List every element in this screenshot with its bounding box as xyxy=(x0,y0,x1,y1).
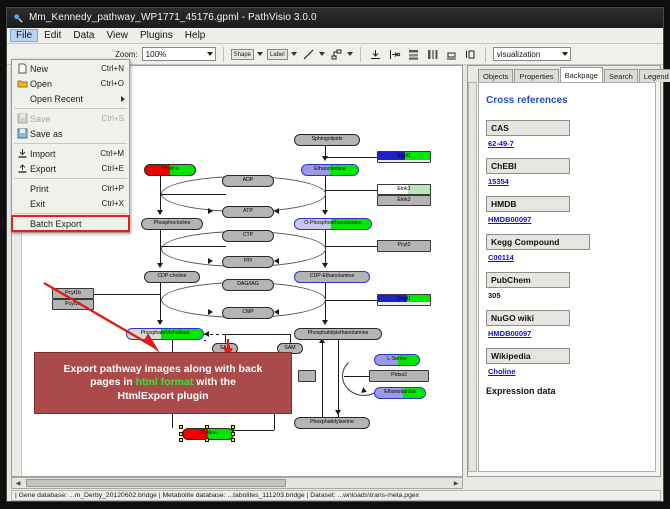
menu-item-accel: Ctrl+X xyxy=(102,199,129,208)
annotation-line-3: HtmlExport plugin xyxy=(118,390,209,402)
menu-item-print[interactable]: Print Ctrl+P xyxy=(12,181,129,196)
scrollbar-thumb[interactable] xyxy=(26,479,286,487)
menu-item-label: Exit xyxy=(30,199,102,209)
tab-search[interactable]: Search xyxy=(604,69,638,82)
file-menu-dropdown[interactable]: New Ctrl+N Open Ctrl+O Open Recent Save … xyxy=(11,59,130,233)
reaction-anchor-box[interactable] xyxy=(298,370,316,382)
label-dropdown-icon[interactable] xyxy=(291,52,297,56)
xref-label-nugo-wiki: NuGO wiki xyxy=(486,310,570,326)
menu-item-export[interactable]: Export Ctrl+E xyxy=(12,161,129,176)
menu-item-accel: Ctrl+P xyxy=(102,184,129,193)
node-label: CDP-Ethanolamine xyxy=(310,274,354,279)
menu-data[interactable]: Data xyxy=(67,29,100,42)
node-label: O-Phosphoethanolamine xyxy=(304,221,361,226)
save-as-icon xyxy=(14,128,30,139)
scroll-left-icon[interactable]: ◀ xyxy=(12,478,24,488)
node-cmp[interactable]: CMP xyxy=(222,307,274,319)
menu-item-accel: Ctrl+M xyxy=(100,149,129,158)
node-ctp[interactable]: CTP xyxy=(222,230,274,242)
node-ethanolamine-top[interactable]: Ethanolamine xyxy=(301,164,359,176)
node-label: Cept1 xyxy=(397,297,411,302)
anchor-line xyxy=(325,246,377,247)
menu-item-accel: Ctrl+E xyxy=(102,164,129,173)
xref-label-wikipedia: Wikipedia xyxy=(486,348,570,364)
xref-value-pubchem: 305 xyxy=(488,291,648,300)
menu-item-label: Save xyxy=(30,114,102,124)
anchor-line xyxy=(325,300,377,301)
node-dag-iag[interactable]: DAG/IAG xyxy=(222,279,274,291)
gene-sgpl1[interactable]: Sgpl1 xyxy=(377,151,431,163)
arrow-head-icon xyxy=(204,331,209,337)
node-cdp-ethanolamine[interactable]: CDP-Ethanolamine xyxy=(294,271,370,283)
node-label: Phosphatidylethanolamine xyxy=(308,331,369,336)
menu-item-new[interactable]: New Ctrl+N xyxy=(12,61,129,76)
export-icon xyxy=(14,163,30,174)
status-bar: | Gene database: ...m_Derby_20120602.bri… xyxy=(11,490,661,501)
menu-item-open-recent[interactable]: Open Recent xyxy=(12,91,129,106)
xref-value-chebi[interactable]: 15354 xyxy=(488,177,648,186)
visualization-combo[interactable]: visualization xyxy=(493,47,571,61)
node-label: ADP xyxy=(243,178,254,183)
arrow-head-icon xyxy=(335,410,341,415)
toolbar-separator xyxy=(223,47,224,62)
connector-line xyxy=(225,334,290,335)
node-label: Pcyt2 xyxy=(398,243,411,248)
connector-line xyxy=(234,430,274,431)
arrow-head-icon xyxy=(322,263,328,268)
node-ethanolamine-lower[interactable]: Ethanolamine xyxy=(374,387,426,399)
menu-item-label: Print xyxy=(30,184,102,194)
new-file-icon xyxy=(14,63,30,74)
node-l-serine[interactable]: L-Serine xyxy=(374,354,420,366)
anchor-line xyxy=(325,157,377,158)
node-label: Ptdss2 xyxy=(391,373,407,378)
node-label: L-Serine xyxy=(387,357,407,362)
annotation-line-2-pre: pages in xyxy=(90,376,136,388)
menu-item-open[interactable]: Open Ctrl+O xyxy=(12,76,129,91)
node-phosphatidylethanolamine[interactable]: Phosphatidylethanolamine xyxy=(294,328,382,340)
menu-file[interactable]: File xyxy=(10,29,38,42)
xref-label-hmdb: HMDB xyxy=(486,196,570,212)
zoom-combo[interactable]: 100% xyxy=(142,47,216,61)
node-label: SAM xyxy=(284,346,295,351)
node-choline-top[interactable]: Choline xyxy=(144,164,196,176)
menu-item-label: Batch Export xyxy=(30,219,129,229)
application-window: Mm_Kennedy_pathway_WP1771_45176.gpml - P… xyxy=(6,7,664,502)
side-panel: Objects Properties Backpage Search Legen… xyxy=(467,65,661,477)
menu-item-import[interactable]: Import Ctrl+M xyxy=(12,146,129,161)
title-bar: Mm_Kennedy_pathway_WP1771_45176.gpml - P… xyxy=(7,8,663,28)
anchor-line xyxy=(325,190,377,191)
side-panel-scrollbar[interactable] xyxy=(468,82,477,472)
connector-line xyxy=(322,340,323,417)
gene-etnk1[interactable]: Etnk1 xyxy=(377,184,431,195)
node-label: Sphingolipids xyxy=(312,137,343,142)
menu-edit[interactable]: Edit xyxy=(38,29,67,42)
node-label: Ethanolamine xyxy=(314,167,346,172)
menu-plugins[interactable]: Plugins xyxy=(134,29,179,42)
line-tool-icon[interactable] xyxy=(301,47,316,62)
xref-label-kegg-compound: Kegg Compound xyxy=(486,234,590,250)
node-o-phosphoethanolamine[interactable]: O-Phosphoethanolamine xyxy=(294,218,372,230)
xref-value-hmdb[interactable]: HMDB00097 xyxy=(488,215,648,224)
node-label: CDP-choline xyxy=(157,274,186,279)
same-height-icon[interactable] xyxy=(463,47,478,62)
open-folder-icon xyxy=(14,78,30,89)
xref-value-cas[interactable]: 62-49-7 xyxy=(488,139,648,148)
backpage-content: Cross references CAS 62-49-7 ChEBI 15354… xyxy=(478,82,656,472)
distribute-vertical-icon[interactable] xyxy=(406,47,421,62)
node-label: CTP xyxy=(243,233,253,238)
arrow-head-icon xyxy=(208,309,213,315)
node-label: Etnk2 xyxy=(397,198,410,203)
node-phosphocholine[interactable]: Phosphocholine xyxy=(141,218,203,230)
node-sphingolipids[interactable]: Sphingolipids xyxy=(294,134,360,146)
node-label: Ethanolamine xyxy=(384,390,416,395)
menu-separator xyxy=(14,178,127,179)
interaction-tool-icon[interactable] xyxy=(329,47,344,62)
pathvisio-icon xyxy=(13,13,24,24)
annotation-highlight: html format xyxy=(136,376,194,388)
node-label: PPi xyxy=(244,259,252,264)
connector-line xyxy=(204,340,206,341)
menu-item-save-as[interactable]: Save as xyxy=(12,126,129,141)
arrow-head-icon xyxy=(274,208,279,214)
screenshot-root: Mm_Kennedy_pathway_WP1771_45176.gpml - P… xyxy=(0,0,670,509)
toolbar-separator xyxy=(485,47,486,62)
menu-item-accel: Ctrl+S xyxy=(102,114,129,123)
xref-label-chebi: ChEBI xyxy=(486,158,570,174)
line-dropdown-icon[interactable] xyxy=(319,52,325,56)
menu-item-label: Import xyxy=(30,149,100,159)
side-panel-tabs[interactable]: Objects Properties Backpage Search Legen… xyxy=(468,66,660,82)
anchor-line xyxy=(160,194,226,195)
xref-value-nugo-wiki[interactable]: HMDB00097 xyxy=(488,329,648,338)
arrow-head-icon xyxy=(157,263,163,268)
selection-handle[interactable] xyxy=(179,425,183,429)
xref-label-pubchem: PubChem xyxy=(486,272,570,288)
tab-properties[interactable]: Properties xyxy=(514,69,558,82)
xref-value-wikipedia[interactable]: Choline xyxy=(488,367,648,376)
menu-item-label: Save as xyxy=(30,129,124,139)
node-adp[interactable]: ADP xyxy=(222,175,274,187)
gene-etnk2[interactable]: Etnk2 xyxy=(377,195,431,206)
status-text: | Gene database: ...m_Derby_20120602.bri… xyxy=(15,492,419,499)
tab-backpage[interactable]: Backpage xyxy=(560,67,603,82)
tab-legend[interactable]: Legend xyxy=(639,69,670,82)
node-label: Choline xyxy=(199,431,217,436)
chevron-down-icon xyxy=(562,52,568,56)
expression-lower xyxy=(378,160,430,162)
import-icon xyxy=(14,148,30,159)
arrow-head-icon xyxy=(274,258,279,264)
annotation-callout: Export pathway images along with back pa… xyxy=(34,352,292,414)
shape-tool-icon[interactable]: Shape xyxy=(231,49,254,60)
annotation-line-2-post: with the xyxy=(193,376,236,388)
connector-line xyxy=(290,334,291,343)
arrow-head-icon xyxy=(322,320,328,325)
arrow-head-icon xyxy=(274,309,279,315)
menu-item-accel: Ctrl+O xyxy=(101,79,129,88)
anchor-line xyxy=(160,246,226,247)
menu-bar[interactable]: File Edit Data View Plugins Help xyxy=(7,28,663,44)
node-ppi[interactable]: PPi xyxy=(222,256,274,268)
menu-item-label: Open Recent xyxy=(30,94,129,104)
connector-line xyxy=(338,340,339,417)
menu-item-accel: Ctrl+N xyxy=(101,64,129,73)
menu-item-exit[interactable]: Exit Ctrl+X xyxy=(12,196,129,211)
node-label: Etnk1 xyxy=(397,187,410,192)
xref-value-kegg-compound[interactable]: C00114 xyxy=(488,253,648,262)
chevron-right-icon xyxy=(121,96,125,102)
menu-separator xyxy=(14,143,127,144)
node-label: Phosphatidylserine xyxy=(310,420,354,425)
selection-handle[interactable] xyxy=(179,438,183,442)
selection-handle[interactable] xyxy=(231,432,235,436)
expression-half xyxy=(408,185,430,194)
menu-item-batch-export[interactable]: Batch Export xyxy=(12,216,129,231)
toolbar-separator xyxy=(360,47,361,62)
selection-handle[interactable] xyxy=(205,425,209,429)
window-title: Mm_Kennedy_pathway_WP1771_45176.gpml - P… xyxy=(29,8,317,28)
expression-data-heading: Expression data xyxy=(486,386,648,396)
selection-handle[interactable] xyxy=(205,438,209,442)
node-label: Sgpl1 xyxy=(397,154,410,159)
label-tool-icon[interactable]: Label xyxy=(267,49,288,60)
xref-label-cas: CAS xyxy=(486,120,570,136)
node-phosphatidylserine[interactable]: Phosphatidylserine xyxy=(294,417,370,429)
zoom-value: 100% xyxy=(146,50,166,59)
menu-item-label: Open xyxy=(30,79,101,89)
node-label: Choline xyxy=(161,167,179,172)
gene-ptdss2[interactable]: Ptdss2 xyxy=(369,370,429,382)
visualization-value: visualization xyxy=(497,50,541,59)
menu-view[interactable]: View xyxy=(100,29,134,42)
menu-help[interactable]: Help xyxy=(179,29,212,42)
annotation-line-1: Export pathway images along with back xyxy=(64,363,263,375)
selection-handle[interactable] xyxy=(231,425,235,429)
scroll-right-icon[interactable]: ▶ xyxy=(450,478,462,488)
arrow-head-icon xyxy=(208,208,213,214)
gene-cept1[interactable]: Cept1 xyxy=(377,294,431,306)
shape-dropdown-icon[interactable] xyxy=(257,52,263,56)
zoom-label: Zoom: xyxy=(115,50,138,59)
menu-item-save[interactable]: Save Ctrl+S xyxy=(12,111,129,126)
menu-item-label: New xyxy=(30,64,101,74)
canvas-horizontal-scrollbar[interactable]: ◀ ▶ xyxy=(11,477,463,489)
menu-item-label: Export xyxy=(30,164,102,174)
arrow-head-icon xyxy=(208,258,213,264)
gene-pcyt2[interactable]: Pcyt2 xyxy=(377,240,431,252)
node-label: DAG/IAG xyxy=(237,282,259,287)
arrow-head-icon xyxy=(322,210,328,215)
arrow-head-icon xyxy=(157,210,163,215)
selection-handle[interactable] xyxy=(231,438,235,442)
cross-references-heading: Cross references xyxy=(486,95,648,106)
node-atp[interactable]: ATP xyxy=(222,206,274,218)
distribute-horizontal-icon[interactable] xyxy=(425,47,440,62)
selection-handle[interactable] xyxy=(179,432,183,436)
node-label: Phosphocholine xyxy=(154,221,191,226)
node-label: ATP xyxy=(243,209,253,214)
align-top-icon[interactable] xyxy=(368,47,383,62)
interaction-dropdown-icon[interactable] xyxy=(347,52,353,56)
menu-separator xyxy=(14,108,127,109)
tab-objects[interactable]: Objects xyxy=(478,69,513,82)
save-icon xyxy=(14,113,30,124)
align-left-icon[interactable] xyxy=(387,47,402,62)
same-width-icon[interactable] xyxy=(444,47,459,62)
chevron-down-icon xyxy=(207,52,213,56)
node-label: CMP xyxy=(242,310,254,315)
menu-separator xyxy=(14,213,127,214)
pointer-arrow-icon xyxy=(42,281,172,356)
